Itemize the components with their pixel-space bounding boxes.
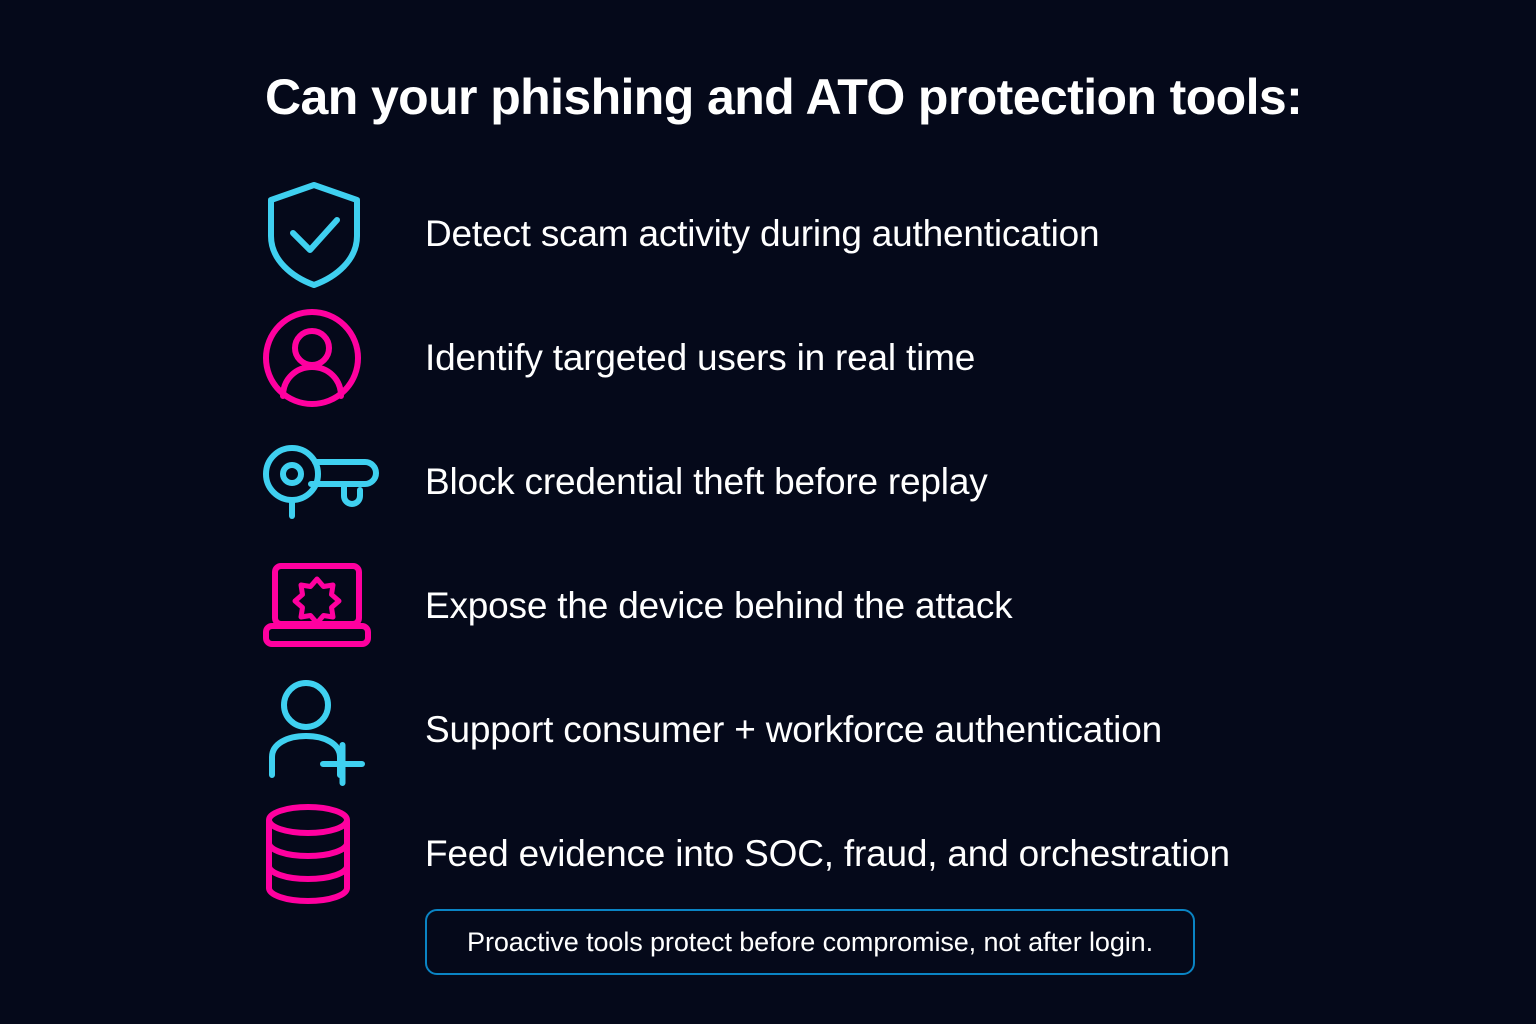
list-item: Identify targeted users in real time	[255, 296, 1455, 420]
footer-callout-text: Proactive tools protect before compromis…	[467, 925, 1153, 959]
list-item: Block credential theft before replay	[255, 420, 1455, 544]
checklist: Detect scam activity during authenticati…	[255, 172, 1455, 916]
list-item: Support consumer + workforce authenticat…	[255, 668, 1455, 792]
list-item: Expose the device behind the attack	[255, 544, 1455, 668]
list-item: Feed evidence into SOC, fraud, and orche…	[255, 792, 1455, 916]
list-item-label: Detect scam activity during authenticati…	[425, 212, 1099, 256]
list-item-label: Support consumer + workforce authenticat…	[425, 708, 1162, 752]
list-item-label: Identify targeted users in real time	[425, 336, 975, 380]
infographic-canvas: Can your phishing and ATO protection too…	[0, 0, 1536, 1024]
footer-callout: Proactive tools protect before compromis…	[425, 909, 1195, 975]
page-title: Can your phishing and ATO protection too…	[265, 66, 1445, 128]
database-icon	[255, 796, 425, 912]
key-icon	[255, 424, 425, 540]
list-item-label: Feed evidence into SOC, fraud, and orche…	[425, 832, 1230, 876]
shield-check-icon	[255, 176, 425, 292]
list-item: Detect scam activity during authenticati…	[255, 172, 1455, 296]
user-circle-icon	[255, 300, 425, 416]
list-item-label: Expose the device behind the attack	[425, 584, 1012, 628]
list-item-label: Block credential theft before replay	[425, 460, 988, 504]
user-plus-icon	[255, 672, 425, 788]
laptop-gear-icon	[255, 548, 425, 664]
